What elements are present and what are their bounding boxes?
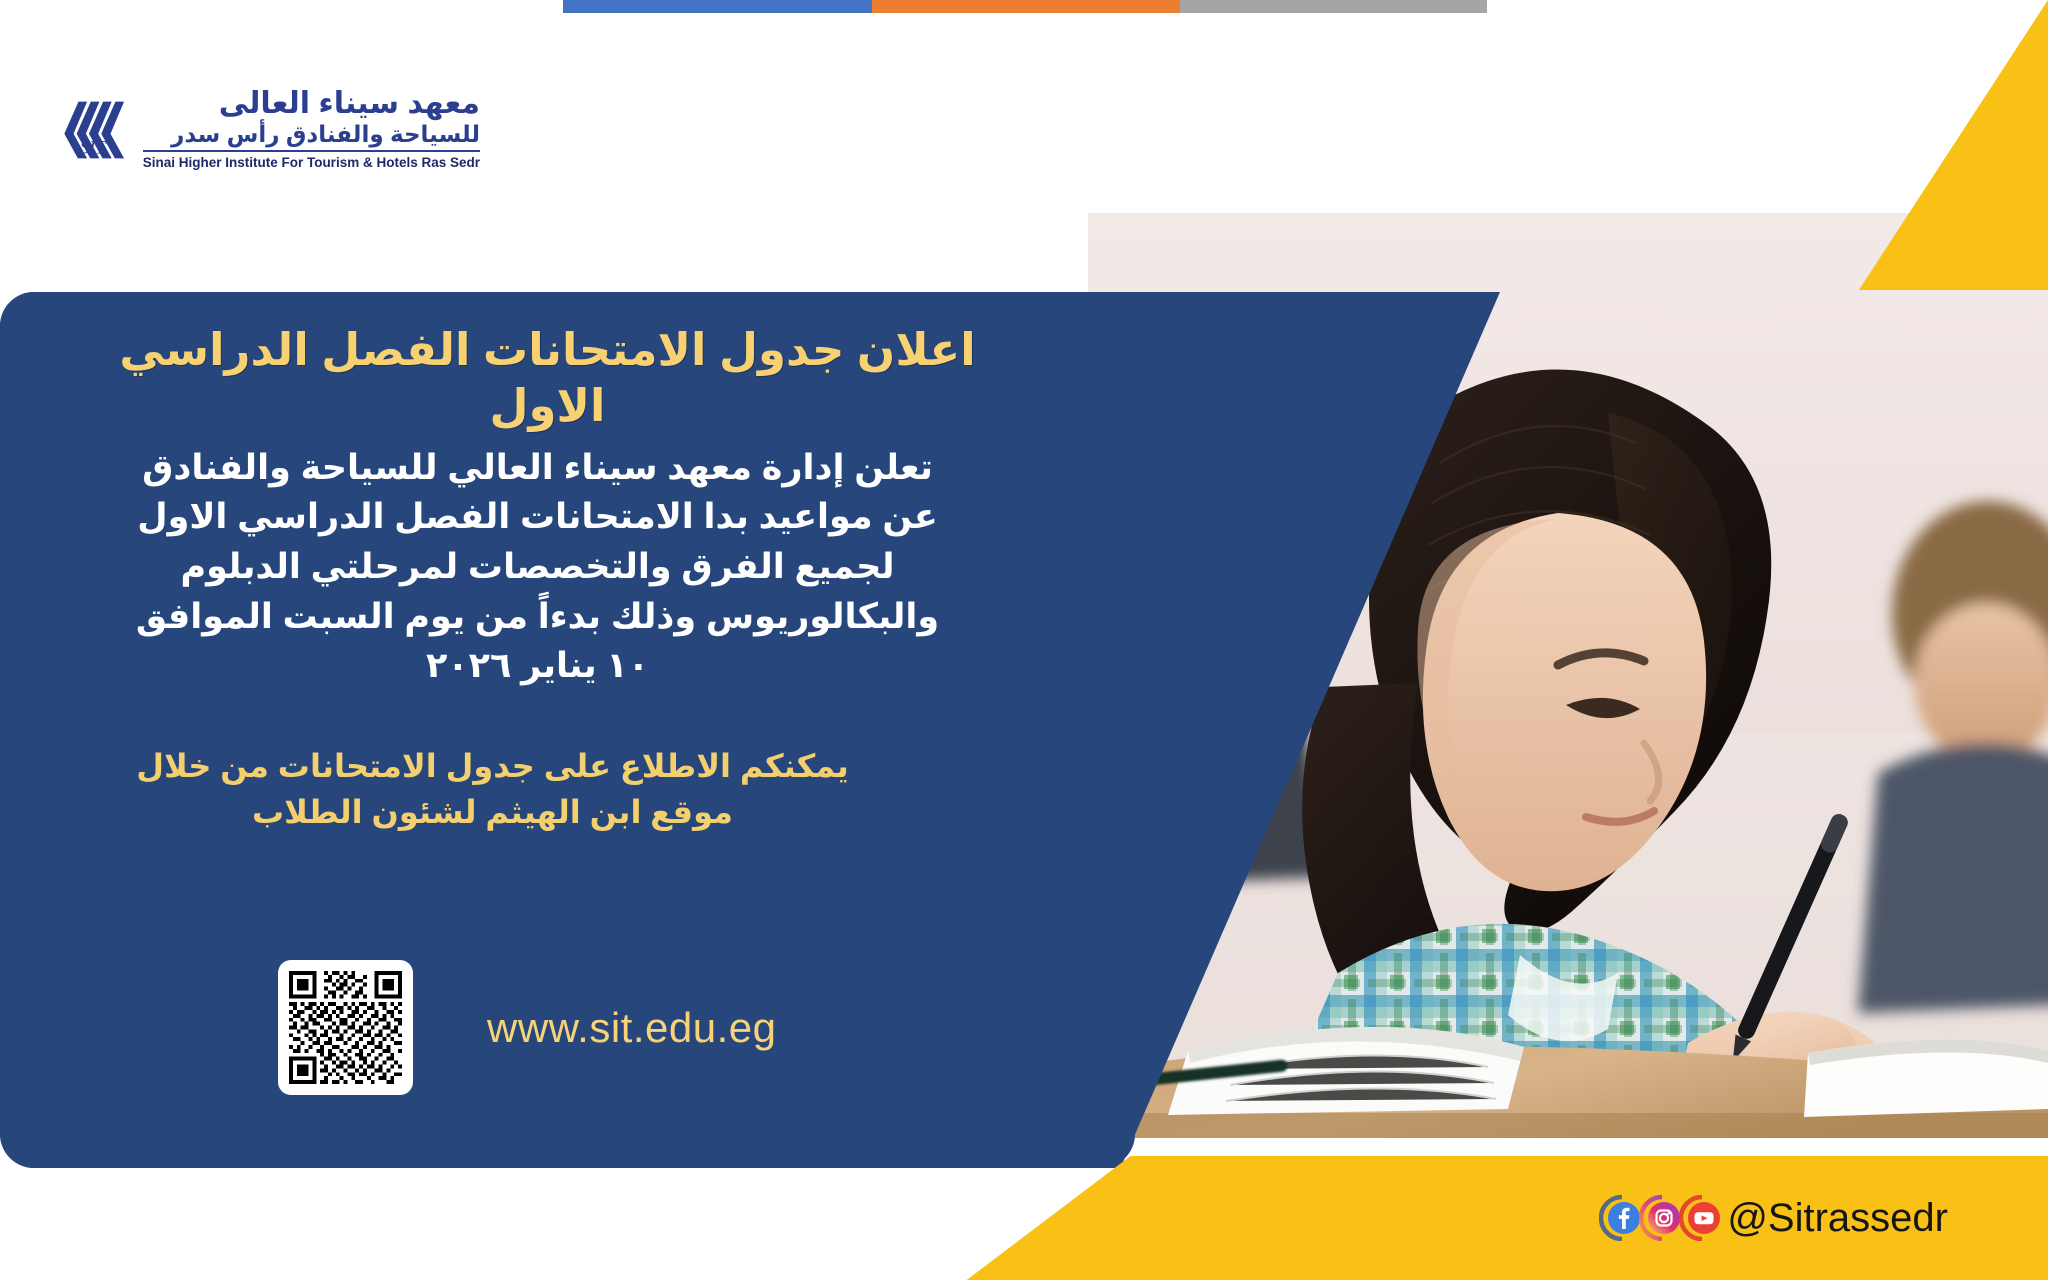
qr-and-website-row: www.sit.edu.eg bbox=[278, 960, 776, 1095]
website-url[interactable]: www.sit.edu.eg bbox=[487, 1004, 776, 1052]
logo-arabic-line-1: معهد سيناء العالى bbox=[143, 88, 480, 120]
social-handle[interactable]: @Sitrassedr bbox=[1727, 1196, 1948, 1241]
rule-segment-orange bbox=[872, 0, 1180, 13]
svg-text:SIT: SIT bbox=[80, 137, 107, 157]
announcement-body: تعلن إدارة معهد سيناء العالي للسياحة وال… bbox=[0, 435, 1135, 691]
logo-wordmark: معهد سيناء العالى للسياحة والفنادق رأس س… bbox=[143, 88, 480, 171]
logo-english-name: Sinai Higher Institute For Tourism & Hot… bbox=[143, 152, 480, 171]
rule-segment-gray bbox=[1180, 0, 1487, 13]
rule-segment-blue bbox=[563, 0, 872, 13]
institute-logo: معهد سيناء العالى للسياحة والفنادق رأس س… bbox=[60, 75, 480, 185]
page-title: اعلان جدول الامتحانات الفصل الدراسي الاو… bbox=[0, 292, 1135, 435]
announcement-cta: يمكنكم الاطلاع على جدول الامتحانات من خل… bbox=[0, 691, 1135, 836]
social-links-row: @Sitrassedr bbox=[1599, 1156, 1948, 1280]
qr-code-icon[interactable] bbox=[278, 960, 413, 1095]
sit-chevron-mark-icon: SIT bbox=[60, 80, 133, 180]
top-color-rule bbox=[563, 0, 1487, 13]
youtube-icon[interactable] bbox=[1679, 1195, 1725, 1241]
logo-arabic-line-2: للسياحة والفنادق رأس سدر bbox=[143, 121, 480, 152]
